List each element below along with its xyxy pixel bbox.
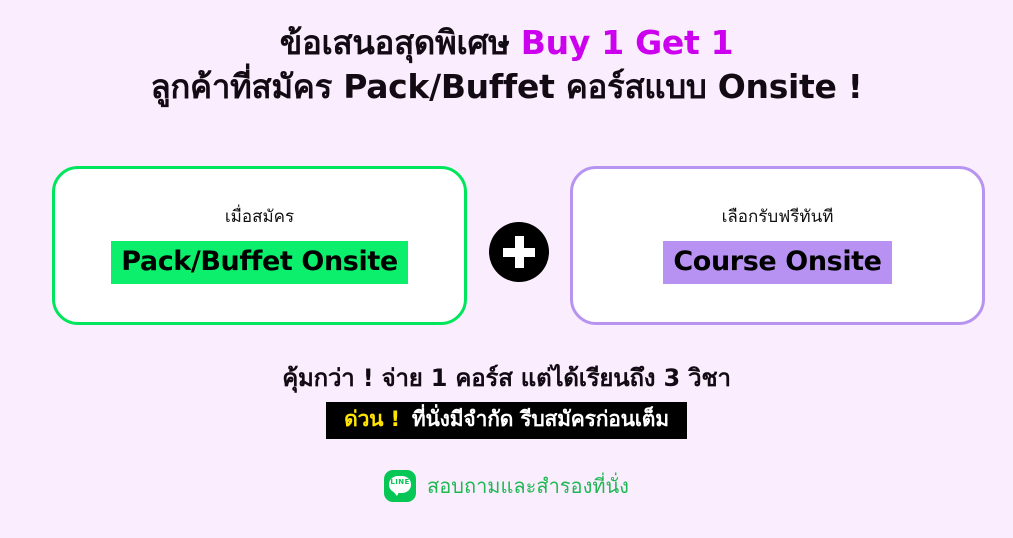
urgency-label: ด่วน ! — [344, 407, 400, 431]
offer-card-pack-buffet[interactable]: เมื่อสมัคร Pack/Buffet Onsite — [52, 166, 467, 325]
line-icon-wordmark: LINE — [384, 479, 416, 486]
headline-line-2: ลูกค้าที่สมัคร Pack/Buffet คอร์สแบบ Onsi… — [0, 66, 1013, 108]
line-icon-bubble-tail — [392, 490, 400, 496]
plus-icon-vertical-bar — [515, 236, 524, 268]
promo-banner: ข้อเสนอสุดพิเศษ Buy 1 Get 1 ลูกค้าที่สมั… — [0, 0, 1013, 538]
headline-line-1-prefix: ข้อเสนอสุดพิเศษ — [280, 23, 521, 62]
contact-text: สอบถามและสำรองที่นั่ง — [427, 474, 629, 498]
headline-accent-buy1get1: Buy 1 Get 1 — [521, 23, 734, 62]
offer-card-course-onsite[interactable]: เลือกรับฟรีทันที Course Onsite — [570, 166, 985, 325]
headline-block: ข้อเสนอสุดพิเศษ Buy 1 Get 1 ลูกค้าที่สมั… — [0, 22, 1013, 108]
left-card-caption: เมื่อสมัคร — [225, 207, 294, 227]
value-proposition-text: คุ้มกว่า ! จ่าย 1 คอร์ส แต่ได้เรียนถึง 3… — [0, 358, 1013, 397]
right-card-highlight: Course Onsite — [663, 241, 891, 284]
urgency-message: ที่นั่งมีจำกัด รีบสมัครก่อนเต็ม — [412, 407, 669, 431]
line-app-icon[interactable]: LINE — [384, 470, 416, 502]
headline-line-1: ข้อเสนอสุดพิเศษ Buy 1 Get 1 — [0, 22, 1013, 64]
plus-icon — [489, 222, 549, 282]
right-card-caption: เลือกรับฟรีทันที — [722, 207, 834, 227]
contact-row[interactable]: LINE สอบถามและสำรองที่นั่ง — [0, 470, 1013, 502]
left-card-highlight: Pack/Buffet Onsite — [111, 241, 408, 284]
urgency-bar: ด่วน !ที่นั่งมีจำกัด รีบสมัครก่อนเต็ม — [326, 402, 687, 439]
urgency-block: ด่วน !ที่นั่งมีจำกัด รีบสมัครก่อนเต็ม — [0, 402, 1013, 439]
